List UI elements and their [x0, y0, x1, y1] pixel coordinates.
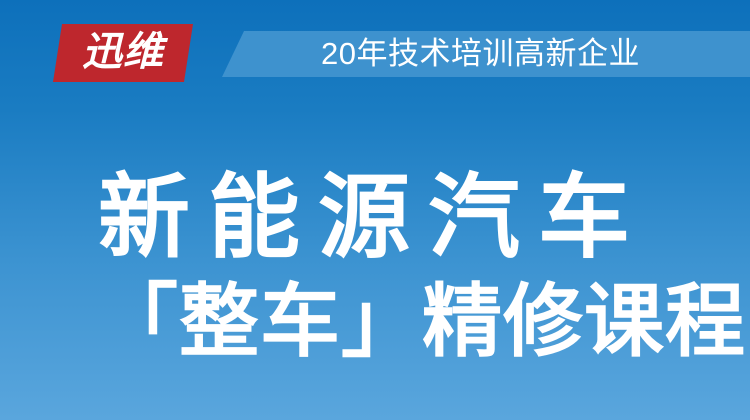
title-line-primary: 新能源汽车: [98, 172, 648, 264]
promotional-poster: 20年技术培训高新企业 迅维 新能源汽车 「整车」精修课程: [0, 0, 750, 420]
poster-title-block: 新能源汽车 「整车」精修课程: [0, 0, 750, 420]
title-line-secondary: 「整车」精修课程: [98, 282, 746, 362]
